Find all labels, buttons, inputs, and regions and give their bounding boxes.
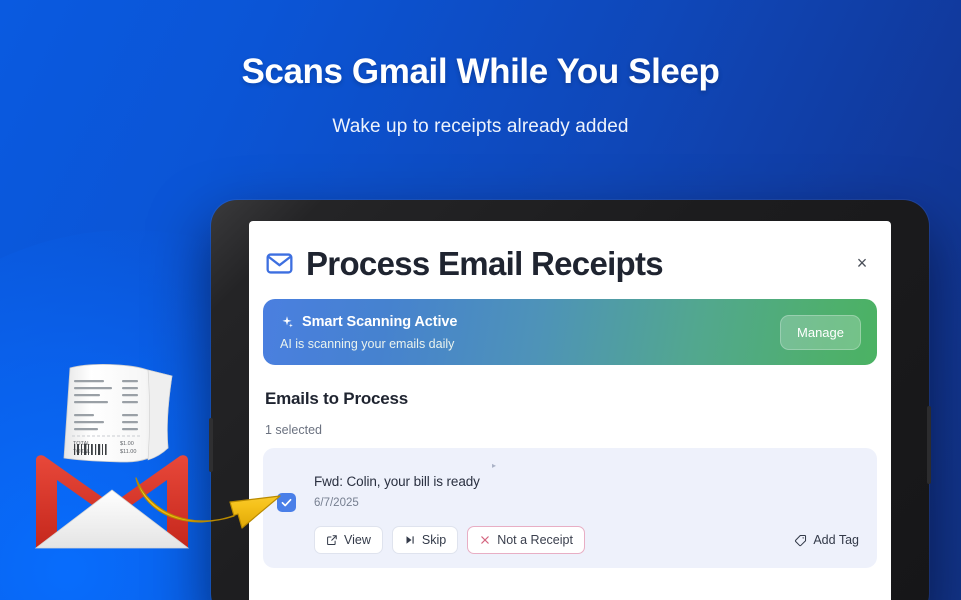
close-x-icon: [479, 534, 491, 546]
page-title: Scans Gmail While You Sleep: [0, 52, 961, 92]
tablet-side-button-right: [927, 406, 931, 484]
sparkle-icon: [280, 315, 294, 329]
banner-title: Smart Scanning Active: [302, 314, 457, 330]
add-tag-button[interactable]: Add Tag: [792, 527, 861, 553]
section-heading: Emails to Process: [263, 389, 877, 409]
not-a-receipt-button-label: Not a Receipt: [497, 533, 573, 547]
skip-button-label: Skip: [422, 533, 446, 547]
email-list-item[interactable]: ▸ Fwd: Colin, your bill is ready 6/7/202…: [263, 448, 877, 568]
banner-text-group: Smart Scanning Active AI is scanning you…: [280, 314, 780, 351]
external-link-icon: [326, 534, 338, 546]
tag-icon: [794, 534, 807, 547]
tablet-device-frame: Process Email Receipts × Smart Scannin: [211, 200, 929, 600]
banner-title-row: Smart Scanning Active: [280, 314, 780, 330]
email-action-row: View Skip: [277, 526, 863, 554]
email-sender: ▸: [277, 461, 863, 472]
email-date: 6/7/2025: [314, 489, 863, 509]
close-icon[interactable]: ×: [849, 250, 875, 276]
promo-screenshot: Scans Gmail While You Sleep Wake up to r…: [0, 0, 961, 600]
arrow-shape: [136, 478, 280, 528]
receipt-paper: TOTAL $1.00 TOTAL $11.00: [64, 364, 172, 462]
add-tag-button-label: Add Tag: [813, 533, 859, 547]
view-button[interactable]: View: [314, 526, 383, 554]
not-a-receipt-button[interactable]: Not a Receipt: [467, 526, 585, 554]
banner-subtitle: AI is scanning your emails daily: [280, 330, 780, 351]
app-modal: Process Email Receipts × Smart Scannin: [249, 221, 891, 568]
smart-scanning-banner: Smart Scanning Active AI is scanning you…: [263, 299, 877, 365]
modal-header: Process Email Receipts ×: [263, 239, 877, 287]
skip-button[interactable]: Skip: [392, 526, 458, 554]
email-subject: Fwd: Colin, your bill is ready: [314, 474, 863, 489]
page-subtitle: Wake up to receipts already added: [0, 92, 961, 138]
mail-icon: [265, 249, 294, 278]
curved-yellow-arrow: [130, 452, 300, 538]
view-button-label: View: [344, 533, 371, 547]
selected-count-label: 1 selected: [263, 423, 877, 437]
tablet-screen-bezel: Process Email Receipts × Smart Scannin: [249, 221, 891, 600]
svg-text:$1.00: $1.00: [120, 441, 134, 447]
email-main-row: Fwd: Colin, your bill is ready 6/7/2025: [277, 474, 863, 512]
modal-title: Process Email Receipts: [306, 247, 849, 280]
manage-button[interactable]: Manage: [780, 315, 861, 350]
email-text-column: Fwd: Colin, your bill is ready 6/7/2025: [314, 474, 863, 509]
tablet-screen: Process Email Receipts × Smart Scannin: [249, 221, 891, 600]
headline-block: Scans Gmail While You Sleep Wake up to r…: [0, 52, 961, 138]
skip-forward-icon: [404, 534, 416, 546]
